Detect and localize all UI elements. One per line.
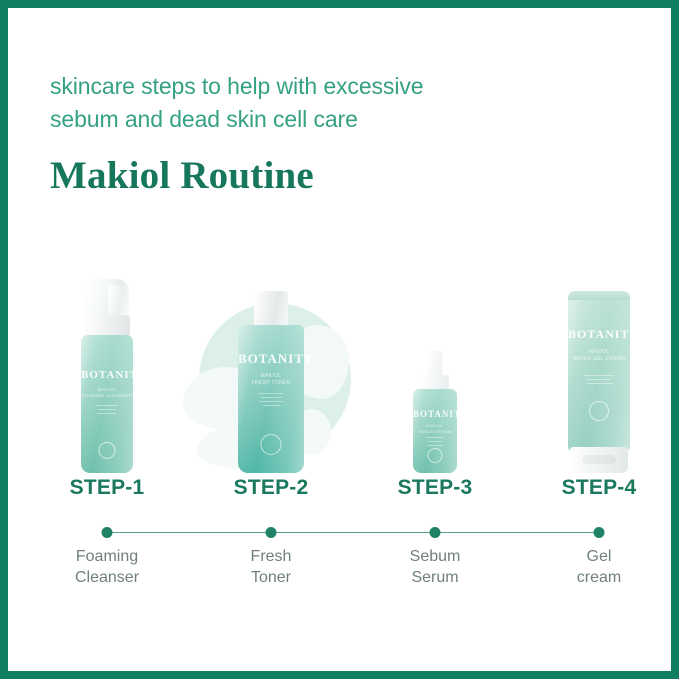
page-title: Makiol Routine	[50, 154, 610, 198]
product-seal-icon	[589, 401, 609, 421]
product-gel-cream: BOTANITY MAKIOL WATER GEL CREAM	[519, 258, 679, 473]
product-label: MAKIOL FOAMING CLEANSER	[81, 387, 133, 399]
product-fresh-toner: BOTANITY MAKIOL FRESH TONER	[191, 258, 351, 473]
tube-body: BOTANITY MAKIOL WATER GEL CREAM	[568, 291, 630, 451]
pump-cap-icon	[85, 279, 129, 319]
product-label: MAKIOL WATER GEL CREAM	[568, 349, 630, 363]
step-caption-4: Gel cream	[519, 546, 679, 588]
product-label: MAKIOL SEBUM SERUM	[413, 423, 457, 434]
timeline-dot-1	[102, 527, 113, 538]
pump-nozzle-icon	[108, 285, 121, 315]
pump-collar-icon	[84, 315, 130, 337]
step-caption-1: Foaming Cleanser	[27, 546, 187, 588]
product-label: MAKIOL FRESH TONER	[238, 373, 304, 387]
bottle-cap-icon	[254, 291, 288, 327]
timeline-line	[107, 532, 599, 533]
step-caption-2: Fresh Toner	[191, 546, 351, 588]
poster-frame: skincare steps to help with excessive se…	[0, 0, 679, 679]
product-row: BOTANITY MAKIOL FOAMING CLEANSER	[16, 258, 679, 473]
step-title-1: STEP-1	[27, 476, 187, 500]
timeline-dot-3	[430, 527, 441, 538]
header-text-block: skincare steps to help with excessive se…	[50, 70, 610, 198]
product-brand: BOTANITY	[238, 351, 304, 367]
step-title-3: STEP-3	[355, 476, 515, 500]
product-seal-icon	[261, 434, 282, 455]
timeline-dot-2	[266, 527, 277, 538]
product-seal-icon	[428, 448, 443, 463]
bottle-body: BOTANITY MAKIOL FOAMING CLEANSER	[81, 335, 133, 473]
product-sebum-serum: BOTANITY MAKIOL SEBUM SERUM	[355, 258, 515, 473]
product-foaming-cleanser: BOTANITY MAKIOL FOAMING CLEANSER	[27, 258, 187, 473]
product-brand: BOTANITY	[81, 369, 133, 381]
dropper-stem-icon	[428, 351, 443, 377]
tube-cap-icon	[570, 447, 628, 473]
product-seal-icon	[99, 442, 116, 459]
step-caption-3: Sebum Serum	[355, 546, 515, 588]
subtitle: skincare steps to help with excessive se…	[50, 70, 610, 136]
bottle-body: BOTANITY MAKIOL FRESH TONER	[238, 325, 304, 473]
bottle-body: BOTANITY MAKIOL SEBUM SERUM	[413, 389, 457, 473]
tube-crimp-icon	[568, 291, 630, 300]
step-title-2: STEP-2	[191, 476, 351, 500]
timeline-dot-4	[594, 527, 605, 538]
product-brand: BOTANITY	[413, 409, 457, 419]
step-timeline	[16, 526, 679, 540]
product-brand: BOTANITY	[568, 327, 630, 342]
step-title-4: STEP-4	[519, 476, 679, 500]
